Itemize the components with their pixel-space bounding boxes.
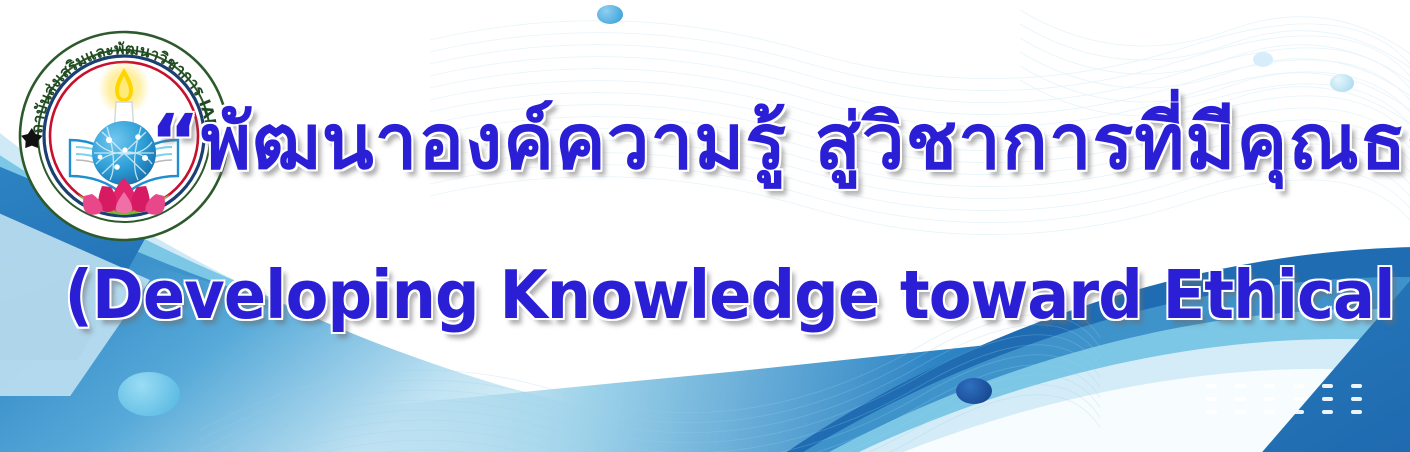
bubble-top-mid <box>597 5 623 24</box>
institute-logo: สถาบันส่งเสริมและพัฒนาวิชาการ IADP Insti… <box>12 10 236 245</box>
dash-mark <box>1264 384 1275 388</box>
dash-mark <box>1351 384 1362 388</box>
institute-banner: สถาบันส่งเสริมและพัฒนาวิชาการ IADP Insti… <box>0 0 1410 452</box>
dash-mark <box>1235 410 1246 414</box>
dash-mark <box>1351 410 1362 414</box>
dash-mark <box>1322 410 1333 414</box>
dash-mark <box>1293 410 1304 414</box>
logo-svg: สถาบันส่งเสริมและพัฒนาวิชาการ IADP Insti… <box>12 10 236 245</box>
bubble-bottom-left <box>118 372 180 416</box>
dash-mark <box>1264 397 1275 401</box>
dash-mark <box>1206 397 1217 401</box>
bubble-bottom-mid <box>956 378 992 404</box>
dash-mark <box>1206 410 1217 414</box>
bubble-top-right-small <box>1330 74 1354 92</box>
dash-mark <box>1293 384 1304 388</box>
dash-mark <box>1235 397 1246 401</box>
dash-mark <box>1322 397 1333 401</box>
dash-grid-bottom-right <box>1206 384 1362 414</box>
globe-icon <box>92 121 156 185</box>
dash-mark <box>1351 397 1362 401</box>
dash-mark <box>1206 384 1217 388</box>
bubble-right-top <box>1253 52 1273 67</box>
dash-mark <box>1235 384 1246 388</box>
dash-mark <box>1264 410 1275 414</box>
dash-mark <box>1322 384 1333 388</box>
dash-mark <box>1293 397 1304 401</box>
